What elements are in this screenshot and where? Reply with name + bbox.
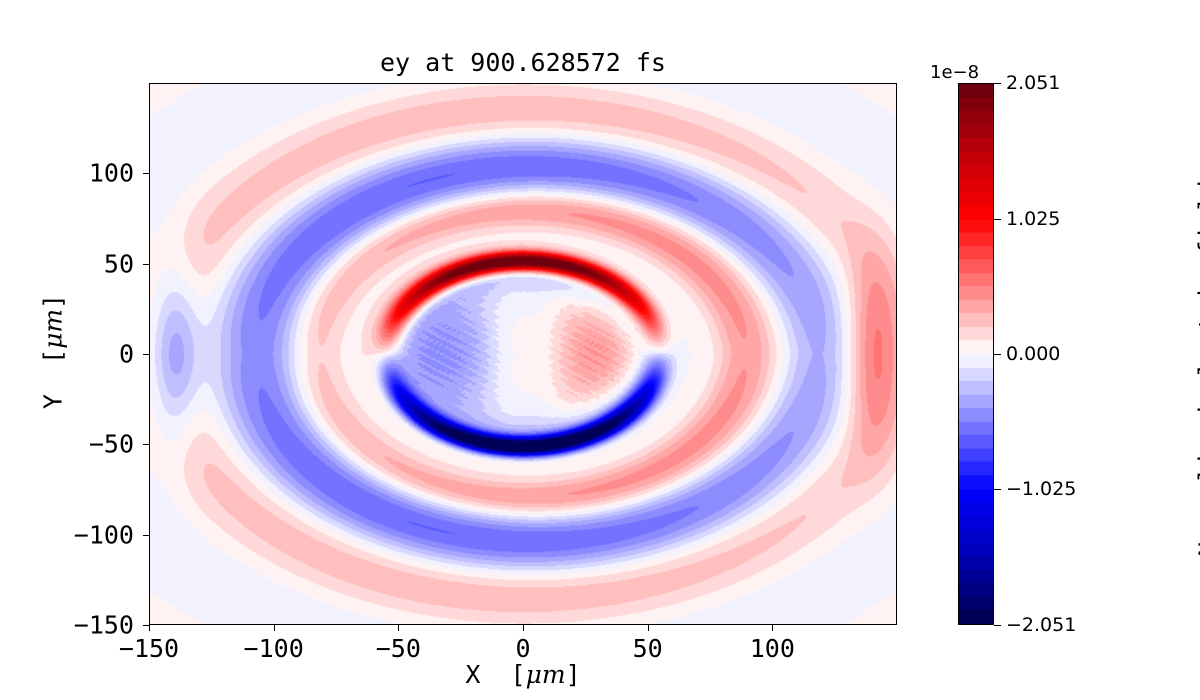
colorbar-tick-label: −2.051 (1006, 614, 1076, 636)
y-tick (143, 535, 149, 536)
y-tick (143, 444, 149, 445)
y-tick (143, 264, 149, 265)
colorbar-tick (994, 489, 1001, 490)
x-tick (274, 625, 275, 631)
x-axis-label-text: X [ (465, 660, 525, 689)
colorbar-label: Normalized electric field (1194, 109, 1200, 629)
x-axis-label: X [μm] (149, 660, 897, 689)
x-tick (772, 625, 773, 631)
y-tick (143, 625, 149, 626)
x-tick-label: 0 (515, 634, 530, 663)
x-tick-label: 50 (633, 634, 663, 663)
colorbar-tick (994, 219, 1001, 220)
x-axis-label-close: ] (566, 660, 581, 689)
plot-axes[interactable] (149, 83, 897, 625)
y-tick-label: −150 (0, 611, 134, 640)
colorbar-tick-label: 1.025 (1006, 208, 1060, 230)
colorbar-tick (994, 83, 1001, 84)
colorbar-canvas (959, 84, 993, 624)
colorbar-offset-text: 1e−8 (930, 62, 979, 83)
x-tick-label: −50 (376, 634, 421, 663)
x-tick-label: −100 (244, 634, 304, 663)
y-axis-label: Y [μm] (39, 202, 68, 502)
x-tick-label: 100 (750, 634, 795, 663)
x-axis-label-unit: μm (526, 660, 566, 689)
y-axis-label-close: ] (39, 294, 68, 309)
x-tick (523, 625, 524, 631)
x-tick (149, 625, 150, 631)
y-tick (143, 354, 149, 355)
x-tick (648, 625, 649, 631)
x-tick (398, 625, 399, 631)
colorbar-tick-label: −1.025 (1006, 478, 1076, 500)
colorbar[interactable]: 2.0511.0250.000−1.025−2.051 (958, 83, 994, 625)
y-tick-label: 100 (0, 159, 134, 188)
colorbar-gradient (958, 83, 994, 625)
colorbar-tick-label: 0.000 (1006, 343, 1060, 365)
field-heatmap (150, 84, 896, 624)
colorbar-tick (994, 625, 1001, 626)
page-title: ey at 900.628572 fs (149, 48, 897, 77)
figure-canvas: ey at 900.628572 fs −150−100−50050100100… (0, 0, 1200, 700)
y-axis-label-text: Y [ (39, 349, 68, 409)
y-axis-label-unit: μm (39, 309, 68, 349)
colorbar-tick (994, 354, 1001, 355)
y-tick-label: −100 (0, 520, 134, 549)
colorbar-tick-label: 2.051 (1006, 72, 1060, 94)
y-tick (143, 173, 149, 174)
